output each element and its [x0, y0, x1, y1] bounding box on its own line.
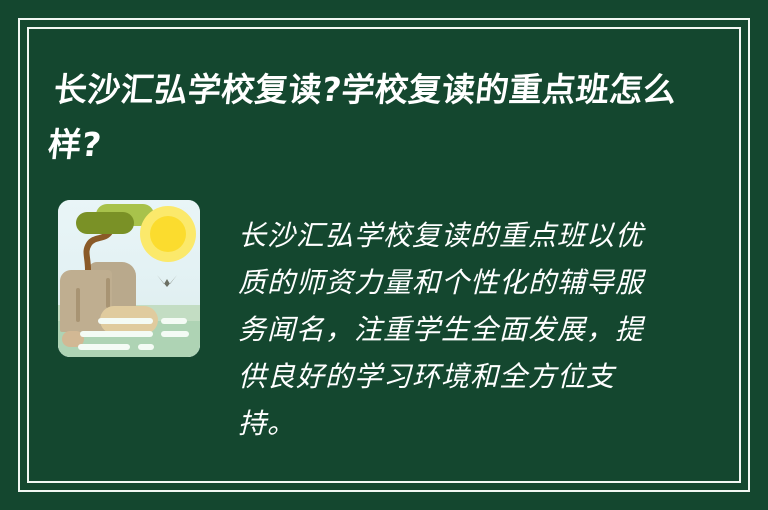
page-title: 长沙汇弘学校复读?学校复读的重点班怎么样? — [45, 62, 697, 172]
cliff-crack-icon — [106, 278, 110, 308]
wave-dash — [138, 344, 154, 350]
wave-dash — [161, 318, 187, 324]
sun-icon — [150, 216, 186, 252]
page-root: 长沙汇弘学校复读?学校复读的重点班怎么样? — [0, 0, 768, 510]
article-body: 长沙汇弘学校复读的重点班以优质的师资力量和个性化的辅导服务闻名，注重学生全面发展… — [238, 212, 653, 447]
tree-foliage-front-icon — [76, 212, 134, 234]
wave-dash — [78, 344, 130, 350]
wave-dash — [98, 318, 153, 324]
bird-icon — [156, 274, 178, 288]
landscape-illustration — [58, 200, 200, 357]
wave-dash — [161, 331, 189, 337]
illustration-card — [58, 200, 200, 357]
wave-dash — [80, 331, 153, 337]
cliff-crack-icon — [76, 288, 80, 322]
